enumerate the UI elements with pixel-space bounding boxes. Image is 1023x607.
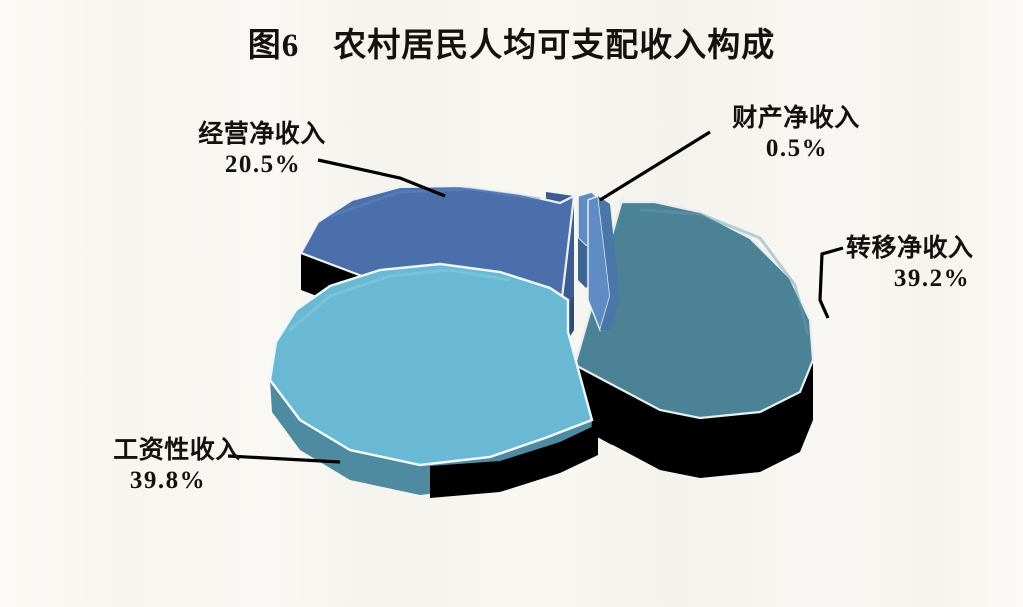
- pie-slice-wage[interactable]: [270, 264, 598, 498]
- slice-label-transfer-value: 39.2%: [846, 264, 1023, 294]
- slice-label-wage-name: 工资性收入: [82, 436, 272, 466]
- slice-label-transfer: 转移净收入 39.2%: [846, 234, 1023, 294]
- slice-label-transfer-name: 转移净收入: [846, 234, 1023, 264]
- slice-label-wage-value: 39.8%: [82, 466, 272, 496]
- property-slice-side-dark: [578, 238, 586, 288]
- slice-label-property-value: 0.5%: [706, 134, 886, 164]
- chart-canvas: 图6 农村居民人均可支配收入构成: [0, 0, 1023, 607]
- pie-chart-figure: [0, 0, 1023, 607]
- slice-label-property-name: 财产净收入: [706, 104, 886, 134]
- slice-label-property: 财产净收入 0.5%: [706, 104, 886, 164]
- slice-label-wage: 工资性收入 39.8%: [82, 436, 272, 496]
- slice-label-business-name: 经营净收入: [172, 120, 352, 150]
- leader-line-transfer: [820, 248, 843, 318]
- slice-label-business: 经营净收入 20.5%: [172, 120, 352, 180]
- slice-label-business-value: 20.5%: [172, 150, 352, 180]
- pie-slice-property[interactable]: [578, 192, 620, 330]
- leader-line-property: [600, 132, 710, 200]
